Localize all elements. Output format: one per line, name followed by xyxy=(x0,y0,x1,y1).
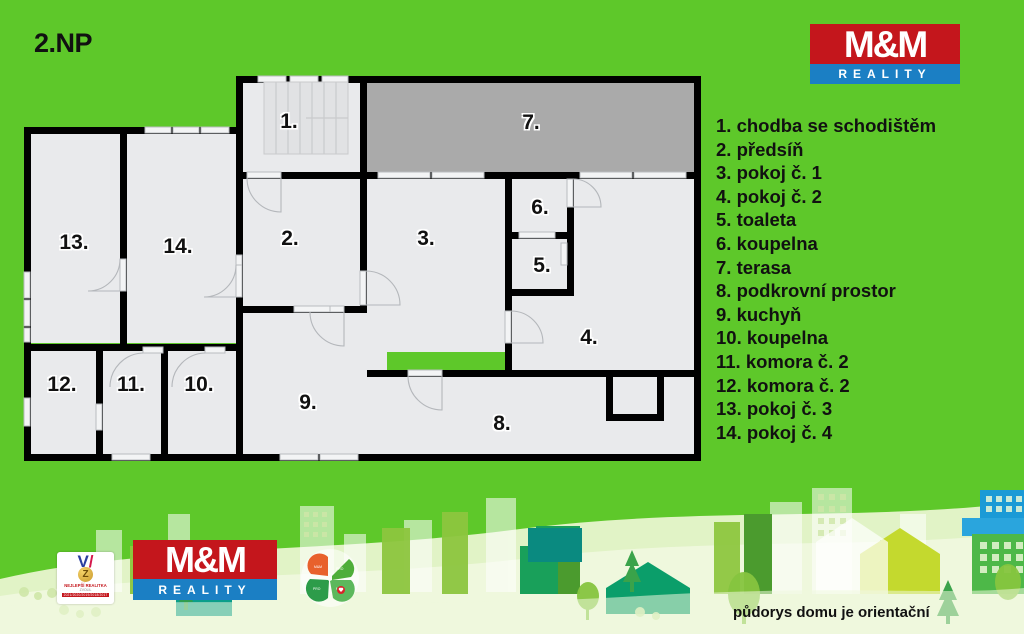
brand-wordmark-text: M&M xyxy=(844,26,926,63)
svg-text:M&M: M&M xyxy=(314,565,322,569)
svg-text:PRO: PRO xyxy=(336,567,344,571)
award-line-2: ZVOLIL xyxy=(80,588,92,592)
brand-wordmark-footer: M&M xyxy=(133,540,277,579)
room-14-floor xyxy=(127,131,240,343)
legend-item: 2. předsíň xyxy=(716,138,1016,162)
legend-item: 1. chodba se schodištěm xyxy=(716,114,1016,138)
room-12-floor xyxy=(28,351,100,457)
legend-item: 12. komora č. 2 xyxy=(716,374,1016,398)
legend-item: 5. toaleta xyxy=(716,208,1016,232)
room-11-floor xyxy=(100,351,165,457)
clover-logo: M&M PRO M&M PRO xyxy=(300,548,360,608)
award-line-3: 2021/2020/2019/2018/2017 xyxy=(62,593,110,597)
room-2-floor xyxy=(240,176,364,309)
legend-item: 8. podkrovní prostor xyxy=(716,279,1016,303)
staircase xyxy=(264,82,348,154)
brand-subtitle-footer: REALITY xyxy=(133,579,277,600)
legend-item: 10. koupelna xyxy=(716,326,1016,350)
legend-item: 4. pokoj č. 2 xyxy=(716,185,1016,209)
disclaimer-text: půdorys domu je orientační xyxy=(733,604,930,621)
svg-text:PRO: PRO xyxy=(313,587,321,591)
brand-logo-footer: M&M REALITY xyxy=(133,540,277,600)
legend-item: 13. pokoj č. 3 xyxy=(716,397,1016,421)
brand-subtitle: REALITY xyxy=(810,64,960,84)
brand-wordmark: M&M xyxy=(810,24,960,64)
brand-wordmark-footer-text: M&M xyxy=(165,542,245,578)
room-13-floor xyxy=(28,131,121,343)
room-9-floor xyxy=(240,309,387,457)
legend-item: 7. terasa xyxy=(716,256,1016,280)
award-coin-icon: Z xyxy=(78,567,93,582)
award-badge: V/ Z NEJLEPŠÍ REALITKA ZVOLIL 2021/2020/… xyxy=(57,552,114,604)
room-10-floor xyxy=(165,351,240,457)
brand-logo-header: M&M REALITY xyxy=(810,24,960,84)
legend-item: 9. kuchyň xyxy=(716,303,1016,327)
room-7-floor xyxy=(364,80,697,176)
legend-item: 6. koupelna xyxy=(716,232,1016,256)
legend-item: 14. pokoj č. 4 xyxy=(716,421,1016,445)
legend-item: 11. komora č. 2 xyxy=(716,350,1016,374)
legend-item: 3. pokoj č. 1 xyxy=(716,161,1016,185)
legend-list: 1. chodba se schodištěm 2. předsíň 3. po… xyxy=(716,114,1016,444)
